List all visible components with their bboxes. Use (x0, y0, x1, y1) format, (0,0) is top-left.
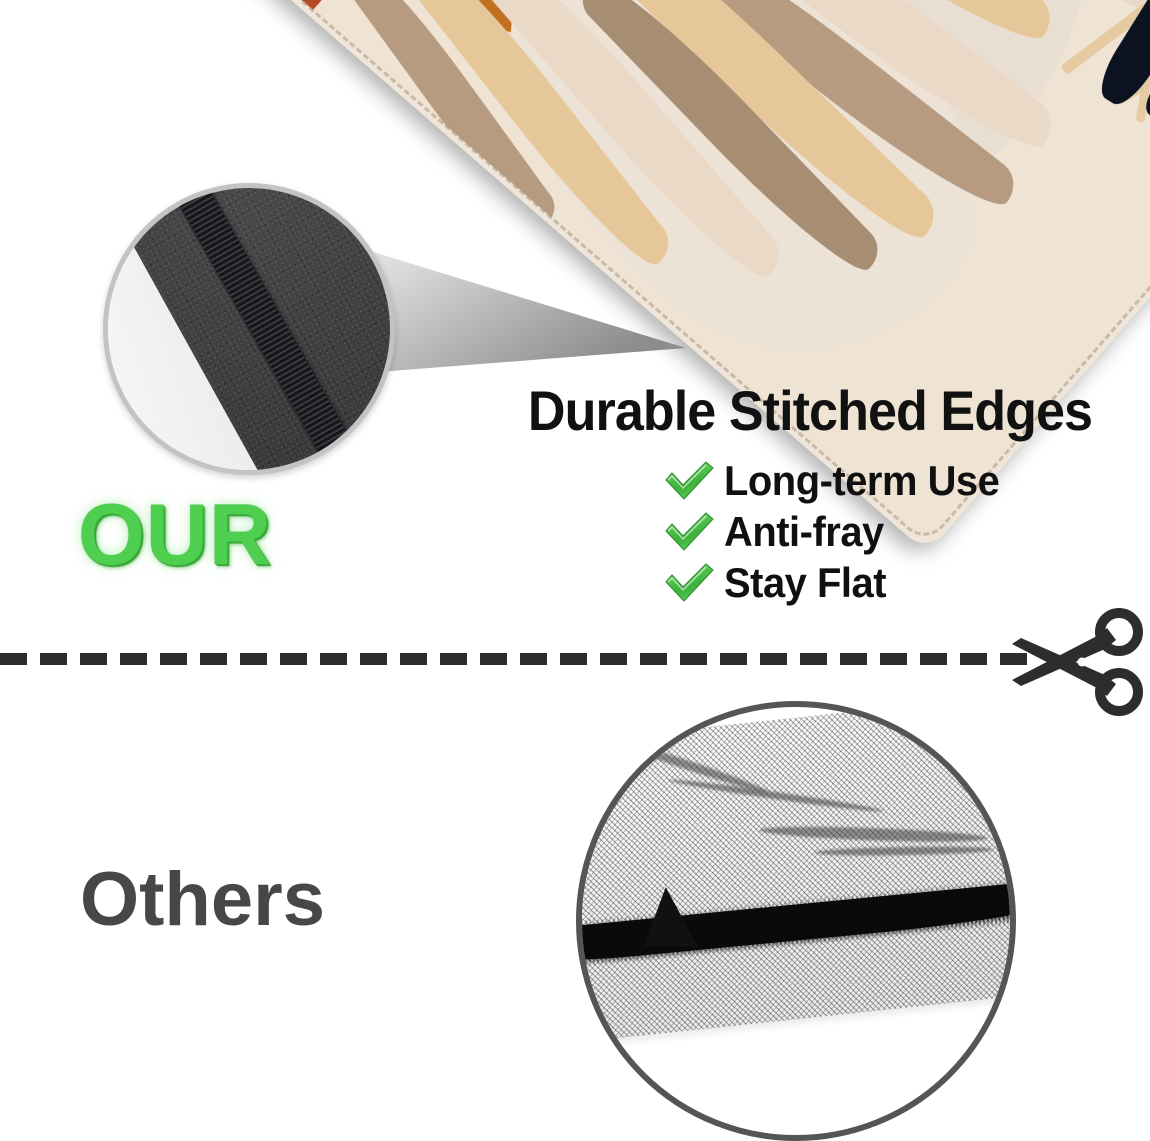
ours-label: OUR (78, 492, 272, 578)
feature-label: Anti-fray (724, 511, 884, 553)
pad-white-surface (576, 701, 1016, 1043)
feature-item: Long-term Use (662, 455, 1014, 506)
check-icon (662, 561, 716, 605)
pattern-terracotta-circle (188, 0, 378, 72)
magnifier-circle-others (576, 701, 1016, 1141)
feature-item: Stay Flat (662, 557, 1014, 608)
feature-list: Long-term Use Anti-fray Stay Flat (662, 455, 1014, 608)
scissors-icon (1004, 606, 1150, 718)
cut-line-divider (0, 653, 1040, 665)
feature-comparison-graphic: Durable Stitched Edges (0, 0, 1150, 1141)
feature-label: Long-term Use (724, 460, 999, 502)
feature-label: Stay Flat (724, 562, 886, 604)
check-icon (662, 459, 716, 503)
others-label: Others (80, 862, 325, 938)
headline-title: Durable Stitched Edges (503, 378, 1117, 443)
magnifier-circle-ours (103, 183, 395, 475)
check-icon (662, 510, 716, 554)
feature-item: Anti-fray (662, 506, 1014, 557)
